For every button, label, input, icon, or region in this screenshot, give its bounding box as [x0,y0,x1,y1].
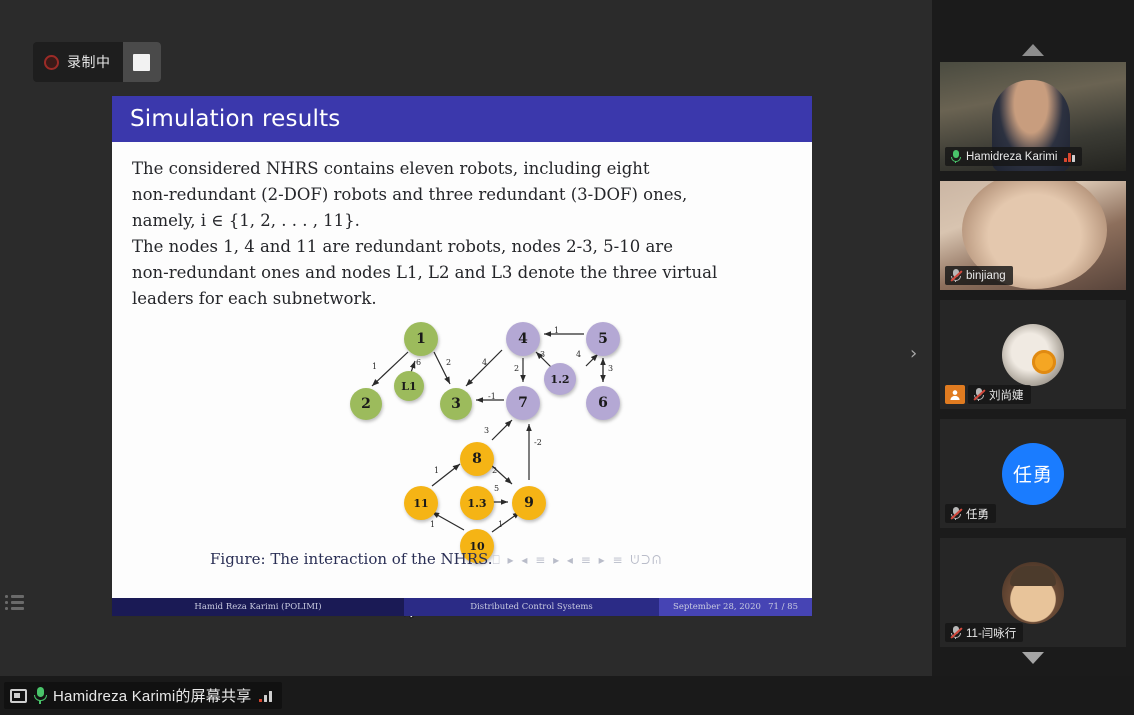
participant-tile-3[interactable]: 刘尚婕 [940,300,1126,409]
list-menu-icon[interactable] [5,595,27,617]
graph-node-4: 4 [506,322,540,356]
scroll-up-button[interactable] [932,38,1134,62]
slide-text-line-2: non-redundant (2-DOF) robots and three r… [132,182,794,208]
graph-edge-label-11: -2 [534,438,542,447]
record-circle-icon [44,55,59,70]
screen-share-status[interactable]: Hamidreza Karimi的屏幕共享 [4,682,282,709]
recording-indicator[interactable]: 录制中 [33,42,161,82]
graph-edge-label-8: 3 [608,364,613,373]
microphone-muted-icon [950,269,961,282]
graph-edge-label-5: 3 [540,350,545,359]
footer-right: September 28, 2020 71 / 85 [659,598,812,616]
microphone-muted-icon [950,626,961,639]
footer-date: September 28, 2020 [673,602,761,612]
participant-tile-5[interactable]: 11-闫咏行 [940,538,1126,647]
graph-node-6: 6 [586,386,620,420]
graph-node-9: 9 [512,486,546,520]
figure-caption: Figure: The interaction of the NHRS.⎕ ▸ … [210,550,663,568]
presentation-slide: Simulation results The considered NHRS c… [112,96,812,616]
graph-node-1: 1 [404,322,438,356]
stop-recording-button[interactable] [123,42,161,82]
slide-text-line-4: The nodes 1, 4 and 11 are redundant robo… [132,234,794,260]
triangle-down-icon [1022,652,1044,664]
participant-tile-1[interactable]: Hamidreza Karimi [940,62,1126,171]
graph-node-L2: 1.2 [544,363,576,395]
slide-title-bar: Simulation results [112,96,812,142]
microphone-icon [33,687,47,704]
graph-edge-label-1: 6 [416,358,421,367]
participant-tile-2[interactable]: binjiang [940,181,1126,290]
figure-region: 12L13451.2768111.3910 162413423-13-21251… [132,316,794,584]
footer-page-number: 71 / 85 [768,602,798,612]
graph-edge-label-2: 2 [446,358,451,367]
triangle-up-icon [1022,44,1044,56]
host-person-icon [945,385,965,404]
participant-name: 刘尚婕 [989,387,1024,403]
slide-title: Simulation results [130,106,340,132]
participant-video-panel: Hamidreza Karimibinjiang刘尚婕任勇任勇11-闫咏行 [932,0,1134,676]
graph-node-L1: L1 [394,371,424,401]
zoom-meeting-window: 录制中 Simulation results The considered NH… [0,0,1134,715]
participant-nameplate: binjiang [945,266,1013,285]
graph-edge-label-7: 2 [514,364,519,373]
participant-name: 11-闫咏行 [966,625,1016,641]
slide-text-line-6: leaders for each subnetwork. [132,286,794,312]
graph-node-7: 7 [506,386,540,420]
participant-nameplate: Hamidreza Karimi [945,147,1082,166]
participant-name: 任勇 [966,506,989,522]
participant-name: Hamidreza Karimi [966,151,1057,163]
microphone-muted-icon [950,507,961,520]
stop-square-icon [133,54,150,71]
footer-course: Distributed Control Systems [404,598,659,616]
chevron-right-icon[interactable]: › [910,345,917,363]
slide-text-line-5: non-redundant ones and nodes L1, L2 and … [132,260,794,286]
audio-level-indicator [259,689,272,702]
bottom-status-bar: Hamidreza Karimi的屏幕共享 [0,676,1134,715]
graph-node-L3: 1.3 [460,486,494,520]
audio-level-indicator [1064,151,1075,162]
graph-edge-label-6: 4 [576,350,581,359]
participant-nameplate: 刘尚婕 [968,385,1031,404]
participant-nameplate: 11-闫咏行 [945,623,1023,642]
shared-screen-area: 录制中 Simulation results The considered NH… [0,0,932,676]
figure-caption-text: Figure: The interaction of the NHRS. [210,550,493,568]
participant-nameplate: 任勇 [945,504,996,523]
recording-label: 录制中 [67,52,111,72]
microphone-muted-icon [973,388,984,401]
graph-edge-label-12: 1 [434,466,439,475]
microphone-icon [950,150,961,163]
graph-node-8: 8 [460,442,494,476]
graph-edge-label-4: 1 [554,326,559,335]
graph-edge-label-9: -1 [488,392,496,401]
slide-footer: Hamid Reza Karimi (POLIMI) Distributed C… [112,598,812,616]
graph-edge-label-10: 3 [484,426,489,435]
scroll-down-button[interactable] [932,646,1134,670]
figure-caption-trailing: ⎕ ▸ ◂ ≡ ▸ ◂ ≡ ▸ ≡ ᕫᑐᕬ [493,553,664,567]
screen-share-icon [10,689,27,703]
graph-edge-label-3: 4 [482,358,487,367]
slide-text-line-3: namely, i ∈ {1, 2, . . . , 11}. [132,208,794,234]
avatar-photo [1002,562,1064,624]
footer-author: Hamid Reza Karimi (POLIMI) [112,598,404,616]
participant-name: binjiang [966,270,1006,282]
slide-body: The considered NHRS contains eleven robo… [112,142,812,584]
recording-status: 录制中 [33,42,123,82]
nhrs-interaction-graph: 12L13451.2768111.3910 162413423-13-21251… [342,316,632,564]
avatar-initials: 任勇 [1002,443,1064,505]
graph-edges [342,316,632,564]
graph-node-2: 2 [350,388,382,420]
graph-edge-label-13: 2 [492,466,497,475]
avatar-photo [1002,324,1064,386]
graph-edge-label-15: 1 [430,520,435,529]
graph-node-5: 5 [586,322,620,356]
graph-edge-label-16: 1 [498,520,503,529]
graph-node-11: 11 [404,486,438,520]
graph-edge-label-14: 5 [494,484,499,493]
screen-share-label: Hamidreza Karimi的屏幕共享 [53,685,251,706]
participant-tile-4[interactable]: 任勇任勇 [940,419,1126,528]
graph-edge-label-0: 1 [372,362,377,371]
slide-text-line-1: The considered NHRS contains eleven robo… [132,156,794,182]
graph-node-3: 3 [440,388,472,420]
